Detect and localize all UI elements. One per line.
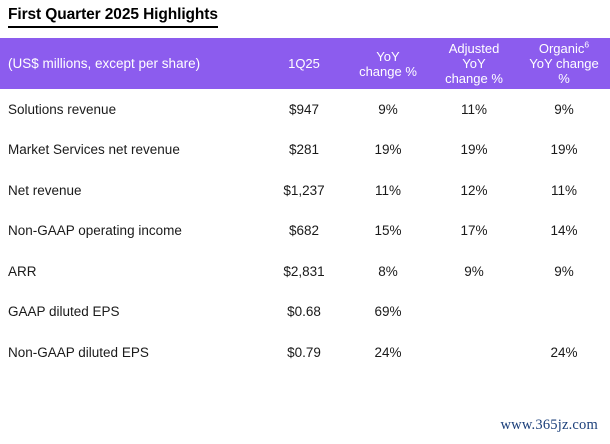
column-header-1q25-line1: 1Q25 <box>262 56 346 71</box>
watermark: www.365jz.com <box>500 417 598 434</box>
cell-organic-yoy-change: 9% <box>518 251 610 292</box>
cell-adjusted-yoy-change: 9% <box>430 251 518 292</box>
cell-organic-yoy-change: 11% <box>518 170 610 211</box>
column-header-organic-yoy-change-line2: YoY change <box>518 56 610 71</box>
cell-1q25: $0.68 <box>262 292 346 333</box>
cell-yoy-change: 9% <box>346 89 430 130</box>
column-header-organic-yoy-change-line3: % <box>518 71 610 86</box>
cell-yoy-change: 19% <box>346 130 430 171</box>
column-header-1q25: 1Q25 <box>262 38 346 89</box>
cell-adjusted-yoy-change: 12% <box>430 170 518 211</box>
column-header-organic-label: Organic <box>539 41 585 56</box>
cell-yoy-change: 24% <box>346 332 430 373</box>
column-header-adjusted-yoy-change-line1: Adjusted <box>430 41 518 56</box>
table-header-row: (US$ millions, except per share) 1Q25 Yo… <box>0 38 610 89</box>
row-label: Net revenue <box>0 170 262 211</box>
cell-1q25: $682 <box>262 211 346 252</box>
cell-adjusted-yoy-change: 19% <box>430 130 518 171</box>
cell-adjusted-yoy-change: 17% <box>430 211 518 252</box>
row-label: Market Services net revenue <box>0 130 262 171</box>
cell-1q25: $281 <box>262 130 346 171</box>
cell-organic-yoy-change: 9% <box>518 89 610 130</box>
table-body: Solutions revenue $947 9% 11% 9% Market … <box>0 89 610 373</box>
cell-yoy-change: 15% <box>346 211 430 252</box>
row-label: GAAP diluted EPS <box>0 292 262 333</box>
column-header-adjusted-yoy-change-line2: YoY <box>430 56 518 71</box>
column-header-organic-yoy-change-line1: Organic6 <box>518 41 610 56</box>
table-row: Non-GAAP diluted EPS $0.79 24% 24% <box>0 332 610 373</box>
table-row: Net revenue $1,237 11% 12% 11% <box>0 170 610 211</box>
column-header-yoy-change-line2: change % <box>346 64 430 79</box>
column-header-organic-yoy-change: Organic6 YoY change % <box>518 38 610 89</box>
cell-adjusted-yoy-change <box>430 332 518 373</box>
cell-1q25: $0.79 <box>262 332 346 373</box>
cell-yoy-change: 69% <box>346 292 430 333</box>
column-header-units: (US$ millions, except per share) <box>0 38 262 89</box>
row-label: Non-GAAP diluted EPS <box>0 332 262 373</box>
cell-1q25: $1,237 <box>262 170 346 211</box>
cell-yoy-change: 11% <box>346 170 430 211</box>
table-row: Solutions revenue $947 9% 11% 9% <box>0 89 610 130</box>
column-header-adjusted-yoy-change-line3: change % <box>430 71 518 86</box>
row-label: Solutions revenue <box>0 89 262 130</box>
footnote-marker-organic: 6 <box>584 40 589 50</box>
cell-organic-yoy-change: 14% <box>518 211 610 252</box>
cell-1q25: $2,831 <box>262 251 346 292</box>
cell-1q25: $947 <box>262 89 346 130</box>
cell-adjusted-yoy-change <box>430 292 518 333</box>
row-label: Non-GAAP operating income <box>0 211 262 252</box>
highlights-table: (US$ millions, except per share) 1Q25 Yo… <box>0 38 610 373</box>
column-header-adjusted-yoy-change: Adjusted YoY change % <box>430 38 518 89</box>
column-header-yoy-change: YoY change % <box>346 38 430 89</box>
cell-organic-yoy-change: 19% <box>518 130 610 171</box>
table-row: Non-GAAP operating income $682 15% 17% 1… <box>0 211 610 252</box>
page-title-container: First Quarter 2025 Highlights <box>8 5 218 28</box>
table-header: (US$ millions, except per share) 1Q25 Yo… <box>0 38 610 89</box>
page-title: First Quarter 2025 Highlights <box>8 5 218 28</box>
column-header-yoy-change-line1: YoY <box>346 49 430 64</box>
cell-organic-yoy-change <box>518 292 610 333</box>
cell-yoy-change: 8% <box>346 251 430 292</box>
table-row: Market Services net revenue $281 19% 19%… <box>0 130 610 171</box>
cell-organic-yoy-change: 24% <box>518 332 610 373</box>
row-label: ARR <box>0 251 262 292</box>
table-row: ARR $2,831 8% 9% 9% <box>0 251 610 292</box>
table-row: GAAP diluted EPS $0.68 69% <box>0 292 610 333</box>
cell-adjusted-yoy-change: 11% <box>430 89 518 130</box>
